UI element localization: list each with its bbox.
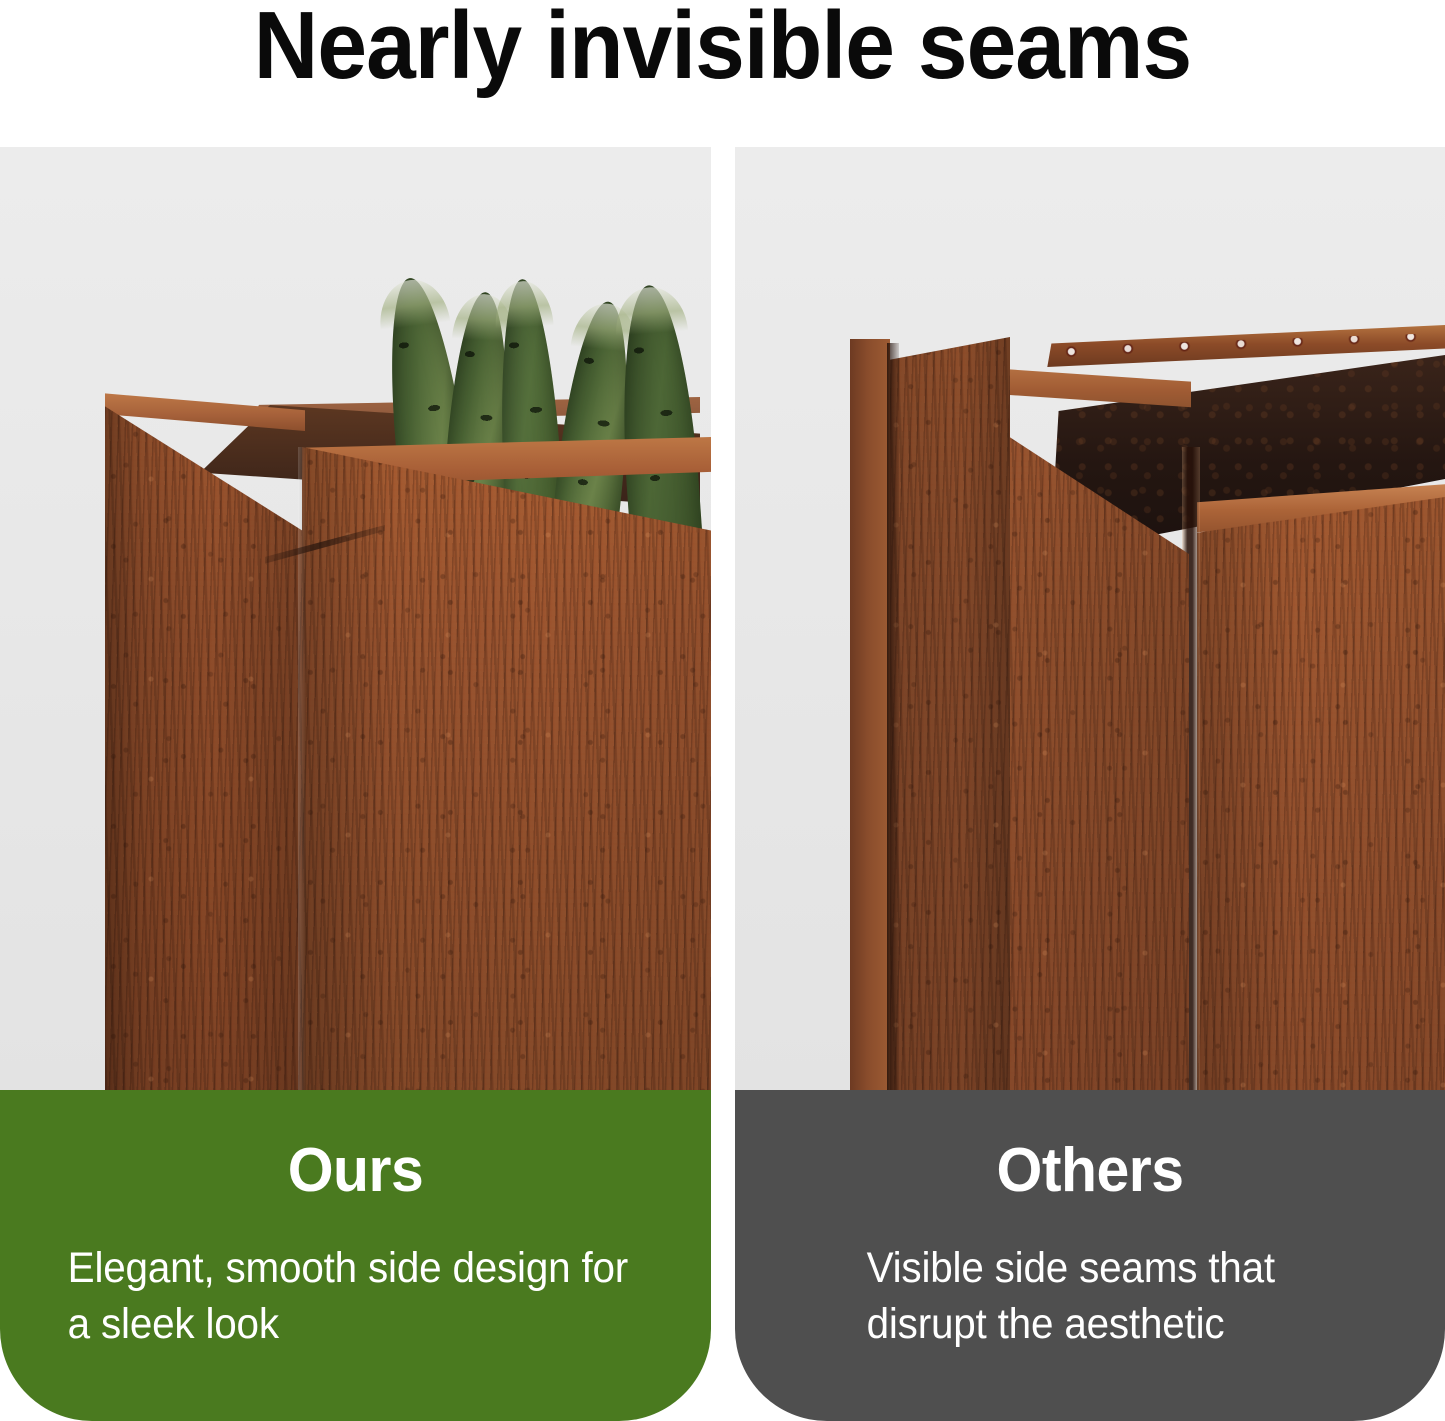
overlap-lip-shadow: [887, 343, 899, 1090]
label-panel-ours: Ours Elegant, smooth side design for a s…: [0, 1090, 711, 1421]
label-panel-others: Others Visible side seams that disrupt t…: [735, 1090, 1445, 1421]
label-description-others: Visible side seams that disrupt the aest…: [735, 1240, 1402, 1352]
rust-texture-overlay: [302, 447, 711, 1090]
comparison-grid: Ours Elegant, smooth side design for a s…: [0, 147, 1445, 1421]
planter-face-right: [1197, 497, 1445, 1090]
product-comparison-infographic: Nearly invisible seams: [0, 0, 1445, 1421]
label-description-ours: Elegant, smooth side design for a sleek …: [0, 1240, 668, 1352]
comparison-column-others: Others Visible side seams that disrupt t…: [735, 147, 1445, 1421]
leaf-tip: [613, 285, 688, 336]
rust-speckle-overlay: [302, 447, 711, 1090]
comparison-column-ours: Ours Elegant, smooth side design for a s…: [0, 147, 711, 1421]
page-title: Nearly invisible seams: [51, 0, 1395, 96]
planter-overlap-lip: [850, 339, 890, 1090]
product-photo-others: [735, 147, 1445, 1090]
planter-face-right: [302, 447, 711, 1090]
label-title-ours: Ours: [18, 1138, 693, 1204]
product-photo-ours: [0, 147, 711, 1090]
planter-corner-edge: [298, 447, 306, 1090]
label-title-others: Others: [753, 1138, 1428, 1204]
leaf-tip: [493, 280, 553, 329]
rust-speckle-overlay: [1197, 497, 1445, 1090]
rust-texture-overlay: [1197, 497, 1445, 1090]
